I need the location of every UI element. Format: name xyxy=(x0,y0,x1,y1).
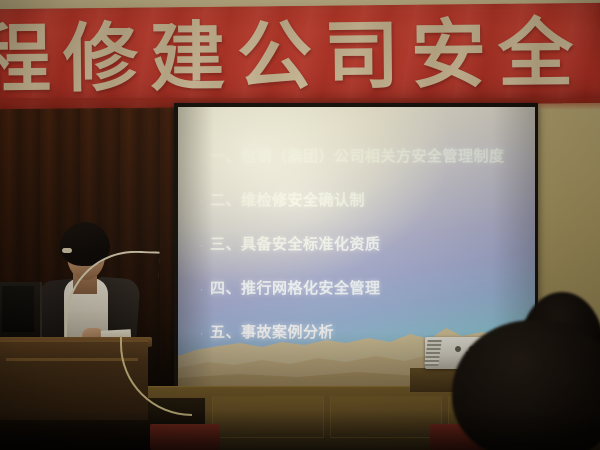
bullet-dot-icon: · xyxy=(200,236,210,258)
bullet-text: 四、推行网格化安全管理 xyxy=(210,277,381,299)
wainscot-panel xyxy=(330,396,442,438)
wainscot-panel xyxy=(212,396,324,438)
banner-text: 程修建公司安全 xyxy=(0,5,600,108)
projector-port-left xyxy=(455,346,461,352)
conference-photo-scene: 程修建公司安全 · 一、包钢（集团）公司相关方安全管理制度 · 二、维检修安全确… xyxy=(0,0,600,450)
bullet-dot-icon: · xyxy=(200,280,210,302)
list-item: · 三、具备安全标准化资质 xyxy=(200,233,530,259)
list-item: · 四、推行网格化安全管理 xyxy=(200,277,530,303)
slide-bullet-list: · 一、包钢（集团）公司相关方安全管理制度 · 二、维检修安全确认制 · 三、具… xyxy=(200,145,530,359)
podium-trim xyxy=(6,358,138,361)
bullet-dot-icon: · xyxy=(200,324,210,346)
bullet-text: 五、事故案例分析 xyxy=(210,321,334,343)
red-banner: 程修建公司安全 xyxy=(0,3,600,109)
list-item: · 二、维检修安全确认制 xyxy=(200,189,530,215)
chair-back-left xyxy=(150,424,220,450)
list-item: · 一、包钢（集团）公司相关方安全管理制度 xyxy=(200,145,530,171)
microphone-head xyxy=(62,248,72,253)
laptop-screen xyxy=(2,286,34,332)
bullet-dot-icon: · xyxy=(200,192,210,214)
bullet-text: 二、维检修安全确认制 xyxy=(210,189,365,211)
bullet-text: 一、包钢（集团）公司相关方安全管理制度 xyxy=(210,145,505,167)
bullet-dot-icon: · xyxy=(200,148,210,170)
bullet-text: 三、具备安全标准化资质 xyxy=(210,233,381,255)
